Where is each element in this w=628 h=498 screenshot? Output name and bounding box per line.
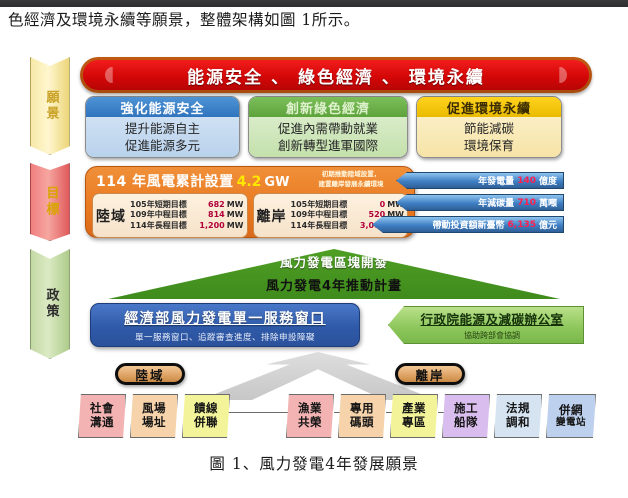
rail-policy-label: 政策 [43,288,58,320]
vision-card-line2: 促進能源多元 [125,138,200,155]
kpi-value: 710 [514,198,539,208]
goal-row-label: 109年中程目標 [130,210,206,221]
kpi-badge-annual-generation: 年發電量 140 億度 [396,172,564,189]
vision-card-line1: 節能減碳 [464,121,514,138]
goal-row: 105年短期目標 682 MW [130,200,244,211]
service-window-title: 經濟部風力發電單一服務窗口 [124,308,326,328]
kpi-unit: 萬噸 [539,196,557,209]
topic-box-line1: 漁業 [298,402,322,416]
vision-card-line1: 促進內需帶動就業 [278,121,378,138]
vision-card-body: 促進內需帶動就業 創新轉型進軍國際 [249,117,407,158]
goal-row-label: 114年長程目標 [291,221,358,232]
topic-box-line2: 共榮 [298,416,322,430]
kpi-label: 年發電量 [478,174,514,187]
goal-row: 109年中程目標 814 MW [130,210,244,221]
topic-box: 饋線併聯 [182,394,230,438]
policy-arrow-line2: 風力發電4年推動計畫 [266,275,402,294]
topic-box-line2: 專區 [402,416,426,430]
goal-note: 初期推動陸域設置， 建置離岸發展永續環境 [295,170,407,190]
topic-box-line1: 饋線 [194,402,218,416]
rail-vision-label: 願景 [43,90,58,122]
rail-section-goal: 目標 [30,163,70,241]
topic-box-line1: 社會 [90,402,114,416]
service-window-subtitle: 單一服務窗口、追蹤審查進度、排除申設障礙 [135,331,315,343]
rail-section-policy: 政策 [30,249,70,359]
kpi-badge-carbon-reduction: 年減碳量 710 萬噸 [396,194,564,211]
goal-note-line1: 初期推動陸域設置， [295,170,407,180]
goal-row-unit: MW [227,221,244,232]
goal-row-value: 814 [206,210,227,221]
topic-box-line1: 併網 [559,404,583,418]
vision-card-line2: 創新轉型進軍國際 [278,138,378,155]
goal-row-label: 114年長程目標 [130,221,197,232]
vision-card-environment: 促進環境永續 節能減碳 環境保育 [416,96,562,158]
kpi-badge-investment: 帶動投資額新臺幣 6,135 億元 [372,216,564,233]
figure-caption: 圖 1、風力發電4年發展願景 [0,452,628,474]
kpi-unit: 億度 [539,174,557,187]
topic-box-line1: 風場 [142,402,166,416]
goal-column-onshore: 陸域 105年短期目標 682 MW 109年中程目標 814 MW 114年長… [92,193,248,238]
energy-office-subtitle: 協助跨部會協調 [464,330,520,341]
topic-box: 專用碼頭 [338,394,386,438]
rail-section-vision: 願景 [30,57,70,155]
topic-box: 併網變電站 [546,394,596,438]
goal-columns: 陸域 105年短期目標 682 MW 109年中程目標 814 MW 114年長… [92,193,408,238]
topic-box-line1: 法規 [506,402,530,416]
topic-box-line2: 變電站 [556,417,586,428]
energy-office-title: 行政院能源及減碳辦公室 [420,309,563,328]
goal-row-label: 105年短期目標 [291,200,378,211]
topic-box: 風場場址 [130,394,178,438]
kpi-value: 140 [514,176,539,186]
vision-card-title: 創新綠色經濟 [249,97,407,117]
topic-box: 漁業共榮 [286,394,334,438]
goal-onshore-label: 陸域 [96,206,126,226]
goal-title-prefix: 114 年風電累計設置 [96,171,234,191]
vision-card-line2: 環境保育 [464,138,514,155]
goal-row-label: 109年中程目標 [291,210,367,221]
topic-box: 法規調和 [494,394,542,438]
goal-row-unit: MW [227,210,244,221]
goal-row: 114年長程目標 1,200 MW [130,221,244,232]
vision-banner: 能源安全 、 綠色經濟 、 環境永續 [80,57,592,93]
vision-card-body: 節能減碳 環境保育 [417,117,561,158]
goal-onshore-rows: 105年短期目標 682 MW 109年中程目標 814 MW 114年長程目標… [130,200,244,232]
goal-row-label: 105年短期目標 [130,200,206,211]
goal-offshore-label: 離岸 [257,206,287,226]
topic-box-line2: 場址 [142,416,166,430]
goal-row-value: 0 [378,200,388,211]
service-window-card: 經濟部風力發電單一服務窗口 單一服務窗口、追蹤審查進度、排除申設障礙 [90,303,360,347]
kpi-label: 帶動投資額新臺幣 [433,218,505,231]
goal-row-value: 1,200 [197,221,226,232]
policy-arrow-line1: 風力發電區塊開發 [280,252,388,271]
goal-note-line2: 建置離岸發展永續環境 [295,180,407,190]
goal-row-value: 682 [206,200,227,211]
topic-box: 施工船隊 [442,394,490,438]
topic-box-line2: 溝通 [90,416,114,430]
goal-panel: 114 年風電累計設置 4.2 GW 初期推動陸域設置， 建置離岸發展永續環境 … [85,166,415,238]
vision-card-title: 強化能源安全 [86,97,239,117]
energy-office-card: 行政院能源及減碳辦公室 協助跨部會協調 [388,306,584,344]
figure-root: 色經濟及環境永續等願景，整體架構如圖 1所示。 願景 目標 政策 能源安全 、 … [0,0,628,498]
rail-goal-label: 目標 [43,186,58,218]
vision-card-green-economy: 創新綠色經濟 促進內需帶動就業 創新轉型進軍國際 [248,96,408,158]
topic-box-line2: 調和 [506,416,530,430]
group-connector-line [228,412,288,413]
kpi-unit: 億元 [539,218,557,231]
vision-card-line1: 提升能源自主 [125,121,200,138]
vision-card-body: 提升能源自主 促進能源多元 [86,117,239,158]
kpi-label: 年減碳量 [478,196,514,209]
topic-box-line1: 專用 [350,402,374,416]
topic-box-line1: 產業 [402,402,426,416]
policy-arrow-banner: 風力發電區塊開發 風力發電4年推動計畫 [108,249,560,299]
window-chrome-strip [0,0,628,7]
vision-banner-text: 能源安全 、 綠色經濟 、 環境永續 [83,60,589,90]
goal-title-value: 4.2 [237,174,262,190]
pill-offshore: 離岸 [395,363,465,385]
topic-box-line2: 併聯 [194,416,218,430]
vision-card-energy-security: 強化能源安全 提升能源自主 促進能源多元 [85,96,240,158]
topic-box: 社會溝通 [78,394,126,438]
vision-card-title: 促進環境永續 [417,97,561,117]
topic-box-line1: 施工 [454,402,478,416]
topic-box-line2: 船隊 [454,416,478,430]
intro-paragraph: 色經濟及環境永續等願景，整體架構如圖 1所示。 [8,8,620,30]
goal-title-unit: GW [264,175,289,190]
topic-box-line2: 碼頭 [350,416,374,430]
goal-row-unit: MW [227,200,244,211]
goal-row: 105年短期目標 0 MW [291,200,405,211]
pill-onshore: 陸域 [115,363,185,385]
topic-box: 產業專區 [390,394,438,438]
kpi-value: 6,135 [505,220,539,230]
